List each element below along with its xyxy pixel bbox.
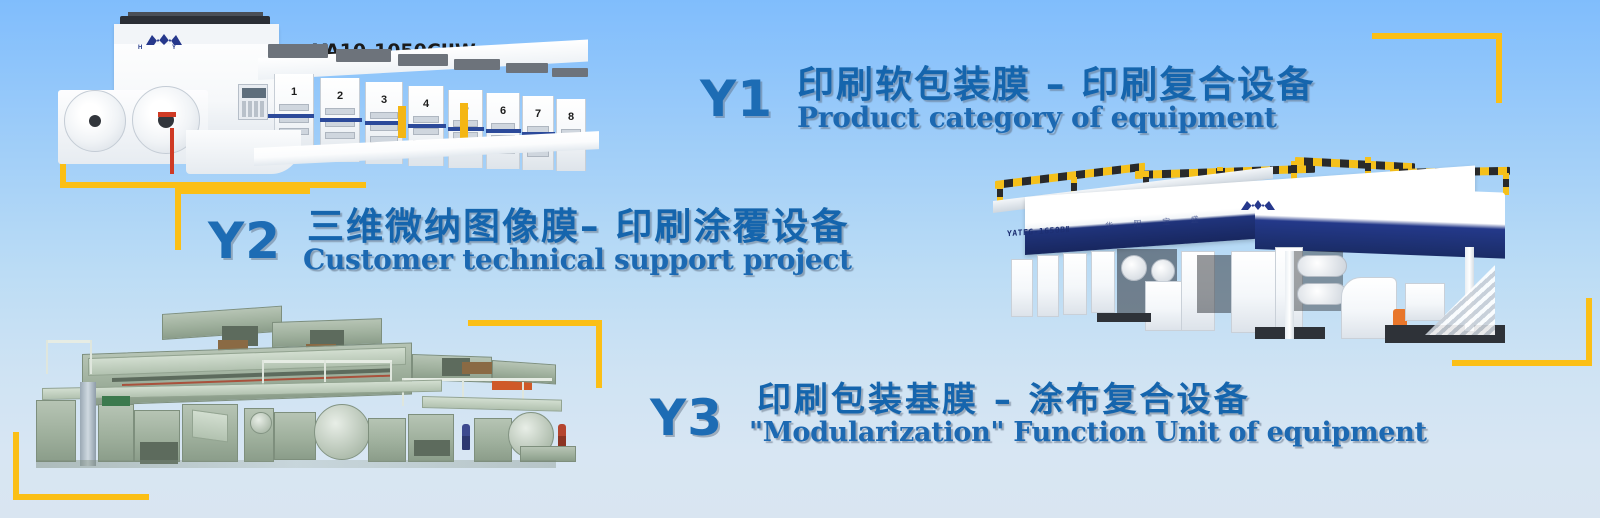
text-group-y1: Y1 印刷软包装膜 – 印刷复合设备 Product category of e…	[700, 66, 1315, 134]
title-cn-y3: 印刷包装基膜 – 涂布复合设备	[757, 383, 1427, 419]
press-unit-number: 4	[423, 98, 429, 110]
machine-brand-logo: H Y	[138, 35, 184, 51]
title-cn-y2: 三维微纳图像膜– 印刷涂覆设备	[307, 208, 852, 247]
subtitle-en-y3: "Modularization" Function Unit of equipm…	[749, 418, 1427, 448]
press-unit-number: 8	[568, 111, 574, 123]
title-cn-y1: 印刷软包装膜 – 印刷复合设备	[797, 66, 1315, 105]
subtitle-en-y2: Customer technical support project	[303, 245, 852, 276]
tag-label-y1: Y1	[700, 74, 773, 124]
press-unit-number: 6	[500, 105, 506, 117]
tag-label-y2: Y2	[208, 216, 281, 266]
press-unit-number: 7	[535, 108, 541, 120]
subtitle-en-y1: Product category of equipment	[797, 103, 1315, 134]
text-group-y2: Y2 三维微纳图像膜– 印刷涂覆设备 Customer technical su…	[208, 208, 852, 276]
machine-photo-coating-line	[22, 300, 582, 478]
text-group-y3: Y3 印刷包装基膜 – 涂布复合设备 "Modularization" Func…	[650, 383, 1427, 447]
press-unit-number: 1	[291, 86, 297, 98]
press-unit-number: 2	[337, 90, 343, 102]
promotional-banner: H Y YA10-1050CIIW 1 2 3 4 5	[0, 0, 1600, 518]
machine-photo-lamination-line: YATFG-1650BⅡ 华 阳 宝 盛	[985, 155, 1515, 370]
press-unit-number: 3	[381, 94, 387, 106]
machine-photo-rotogravure-press: H Y YA10-1050CIIW 1 2 3 4 5	[58, 8, 598, 183]
tag-label-y3: Y3	[650, 393, 723, 443]
machine-brand-logo	[1240, 199, 1276, 217]
